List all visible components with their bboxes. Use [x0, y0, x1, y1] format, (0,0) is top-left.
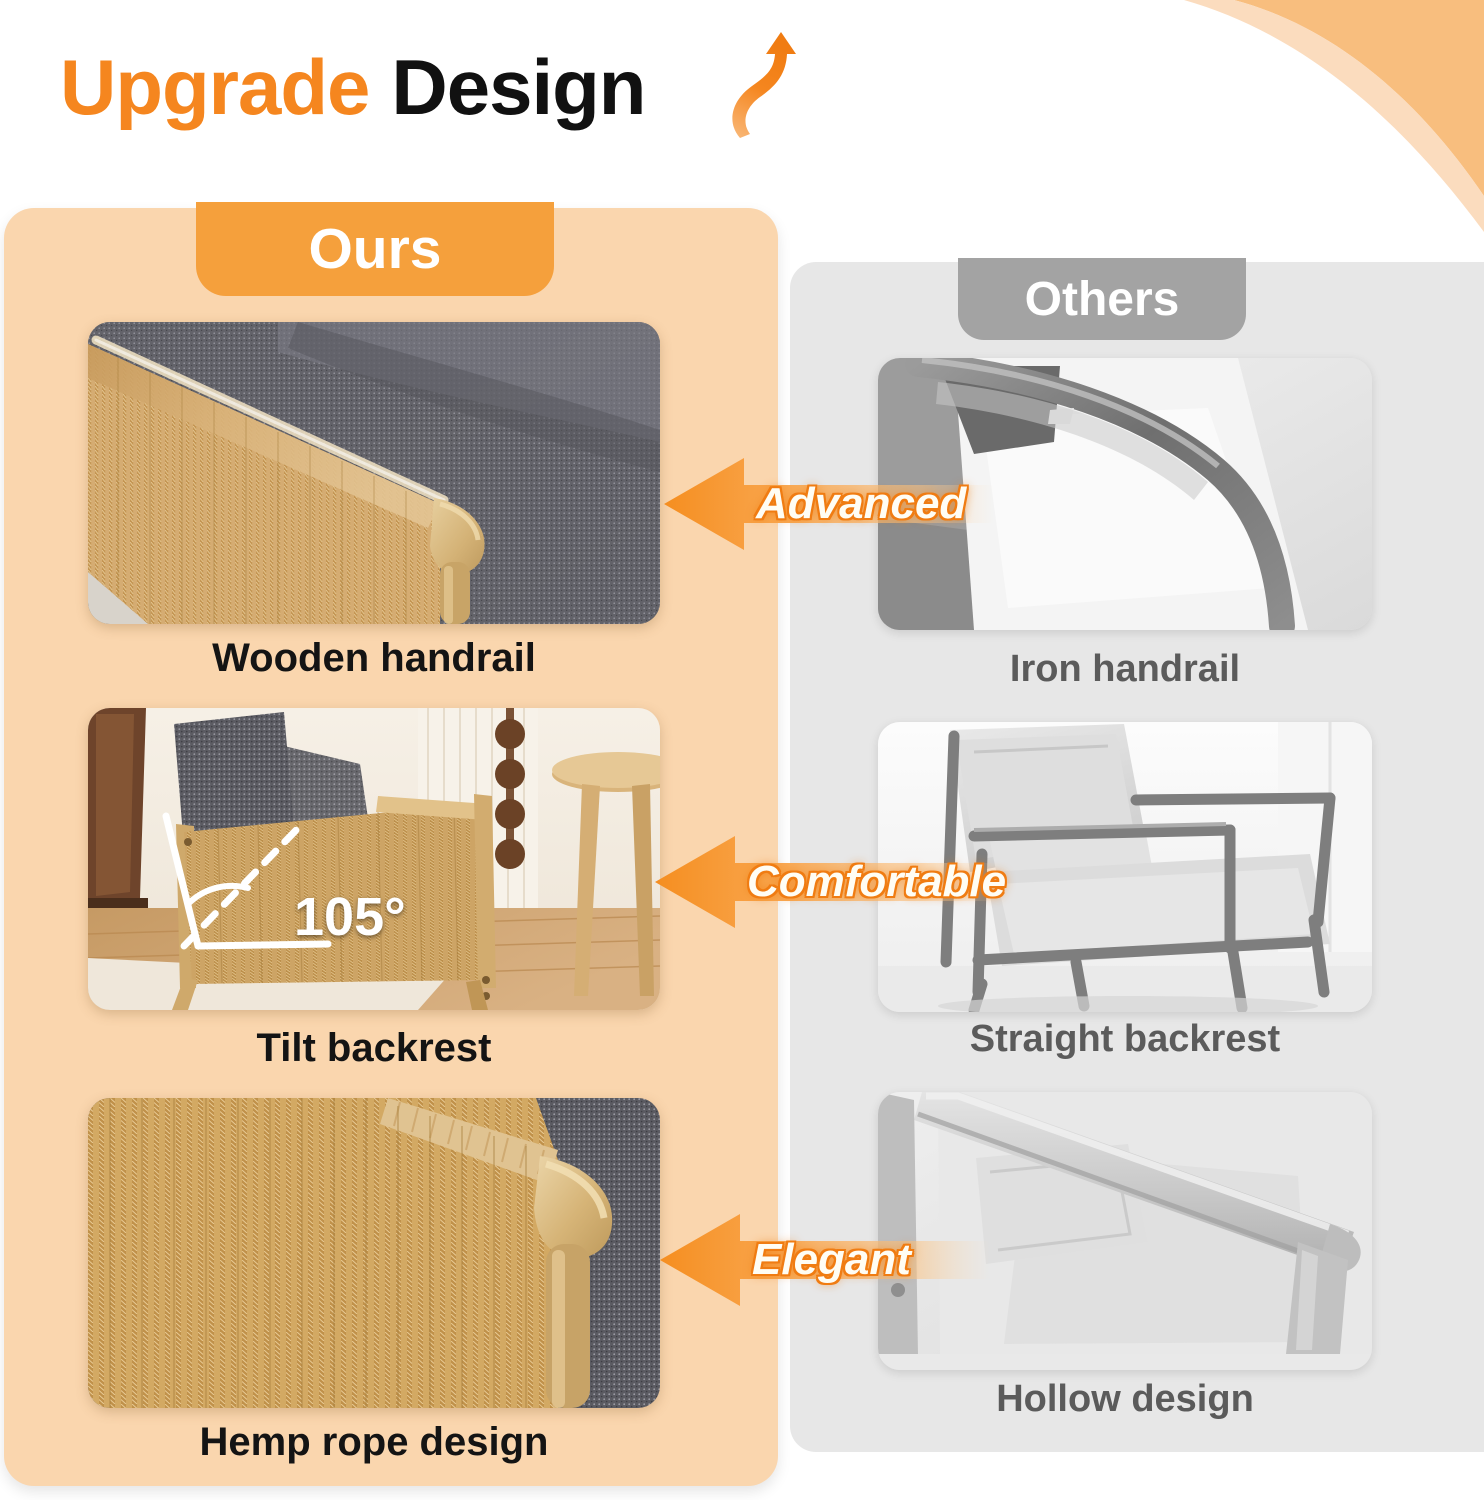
- badge-others-label: Others: [1025, 272, 1180, 327]
- caption-tilt-backrest: Tilt backrest: [88, 1026, 660, 1071]
- hemp-rope-design-photo: [88, 1098, 660, 1408]
- iron-handrail-photo: [878, 358, 1372, 630]
- tilt-backrest-photo: 105°: [88, 708, 660, 1010]
- badge-others: Others: [958, 258, 1246, 340]
- caption-iron-handrail: Iron handrail: [878, 648, 1372, 691]
- title-design: Design: [391, 43, 645, 131]
- hollow-design-photo: [878, 1092, 1372, 1370]
- badge-ours: Ours: [196, 202, 554, 296]
- caption-wooden-handrail: Wooden handrail: [88, 636, 660, 681]
- page-title: UpgradeDesign: [60, 48, 645, 126]
- angle-value-label: 105°: [294, 886, 406, 948]
- caption-hollow-design: Hollow design: [878, 1378, 1372, 1421]
- badge-ours-label: Ours: [308, 216, 441, 282]
- caption-straight-backrest: Straight backrest: [878, 1018, 1372, 1061]
- infographic-canvas: UpgradeDesign Ours Others: [0, 0, 1484, 1500]
- curved-up-arrow-icon: [718, 30, 804, 155]
- straight-backrest-photo: [878, 722, 1372, 1012]
- caption-hemp-rope-design: Hemp rope design: [88, 1420, 660, 1465]
- corner-swoosh-decoration: [1064, 0, 1484, 300]
- wooden-handrail-photo: [88, 322, 660, 624]
- title-upgrade: Upgrade: [60, 43, 369, 131]
